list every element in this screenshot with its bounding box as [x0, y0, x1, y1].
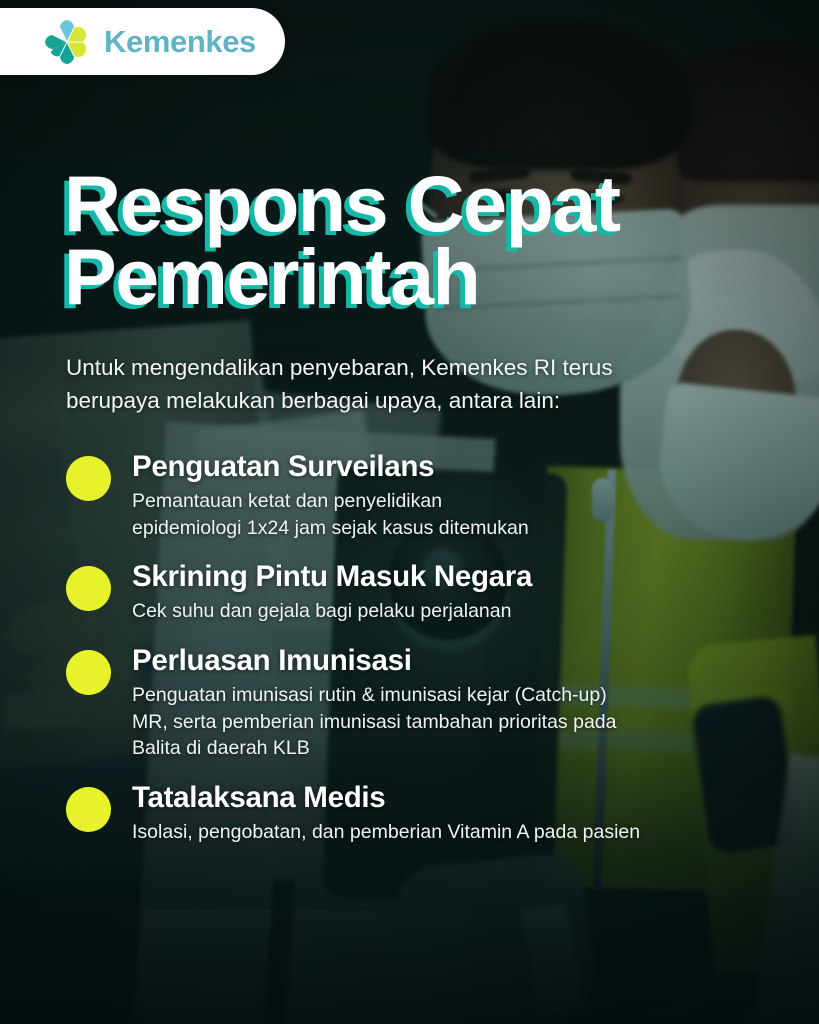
page-subtitle: Untuk mengendalikan penyebaran, Kemenkes… — [66, 352, 746, 418]
list-item-desc-line-2: epidemiologi 1x24 jam sejak kasus ditemu… — [132, 517, 529, 539]
list-item-title: Skrining Pintu Masuk Negara — [132, 560, 764, 594]
list-item-title: Tatalaksana Medis — [132, 781, 764, 815]
list-item: Penguatan Surveilans Pemantauan ketat da… — [64, 450, 764, 541]
list-item-title: Penguatan Surveilans — [132, 450, 764, 484]
page-subtitle-line-1: Untuk mengendalikan penyebaran, Kemenkes… — [66, 355, 613, 380]
list-item-description: Pemantauan ketat dan penyelidikan epidem… — [132, 488, 764, 542]
yellow-dot-icon — [66, 456, 111, 501]
page-title-line-2: Pemerintah — [64, 241, 764, 314]
page-title: Respons Cepat Pemerintah — [64, 168, 764, 313]
list-item-desc-line-3: Balita di daerah KLB — [132, 737, 310, 759]
list-item-desc-line-2: MR, serta pemberian imunisasi tambahan p… — [132, 711, 616, 733]
poster-content: Kemenkes Respons Cepat Pemerintah Untuk … — [0, 0, 819, 1024]
poster-root: Kemenkes Respons Cepat Pemerintah Untuk … — [0, 0, 819, 1024]
list-item-description: Penguatan imunisasi rutin & imunisasi ke… — [132, 682, 764, 763]
list-item-desc-line-1: Penguatan imunisasi rutin & imunisasi ke… — [132, 684, 607, 706]
brand-wordmark: Kemenkes — [104, 26, 256, 57]
measure-list: Penguatan Surveilans Pemantauan ketat da… — [64, 450, 764, 865]
list-item: Skrining Pintu Masuk Negara Cek suhu dan… — [64, 560, 764, 625]
yellow-dot-icon — [66, 566, 111, 611]
list-item-desc-line-1: Pemantauan ketat dan penyelidikan — [132, 490, 442, 512]
page-subtitle-line-2: berupaya melakukan berbagai upaya, antar… — [66, 388, 560, 413]
yellow-dot-icon — [66, 787, 111, 832]
list-item-desc-line-1: Isolasi, pengobatan, dan pemberian Vitam… — [132, 821, 640, 843]
list-item: Perluasan Imunisasi Penguatan imunisasi … — [64, 644, 764, 762]
kemenkes-flower-logo-icon — [42, 18, 92, 66]
list-item-description: Isolasi, pengobatan, dan pemberian Vitam… — [132, 819, 764, 846]
list-item-description: Cek suhu dan gejala bagi pelaku perjalan… — [132, 598, 764, 625]
yellow-dot-icon — [66, 650, 111, 695]
list-item-desc-line-1: Cek suhu dan gejala bagi pelaku perjalan… — [132, 600, 511, 622]
list-item: Tatalaksana Medis Isolasi, pengobatan, d… — [64, 781, 764, 846]
brand-logo-pill: Kemenkes — [0, 8, 285, 75]
list-item-title: Perluasan Imunisasi — [132, 644, 764, 678]
